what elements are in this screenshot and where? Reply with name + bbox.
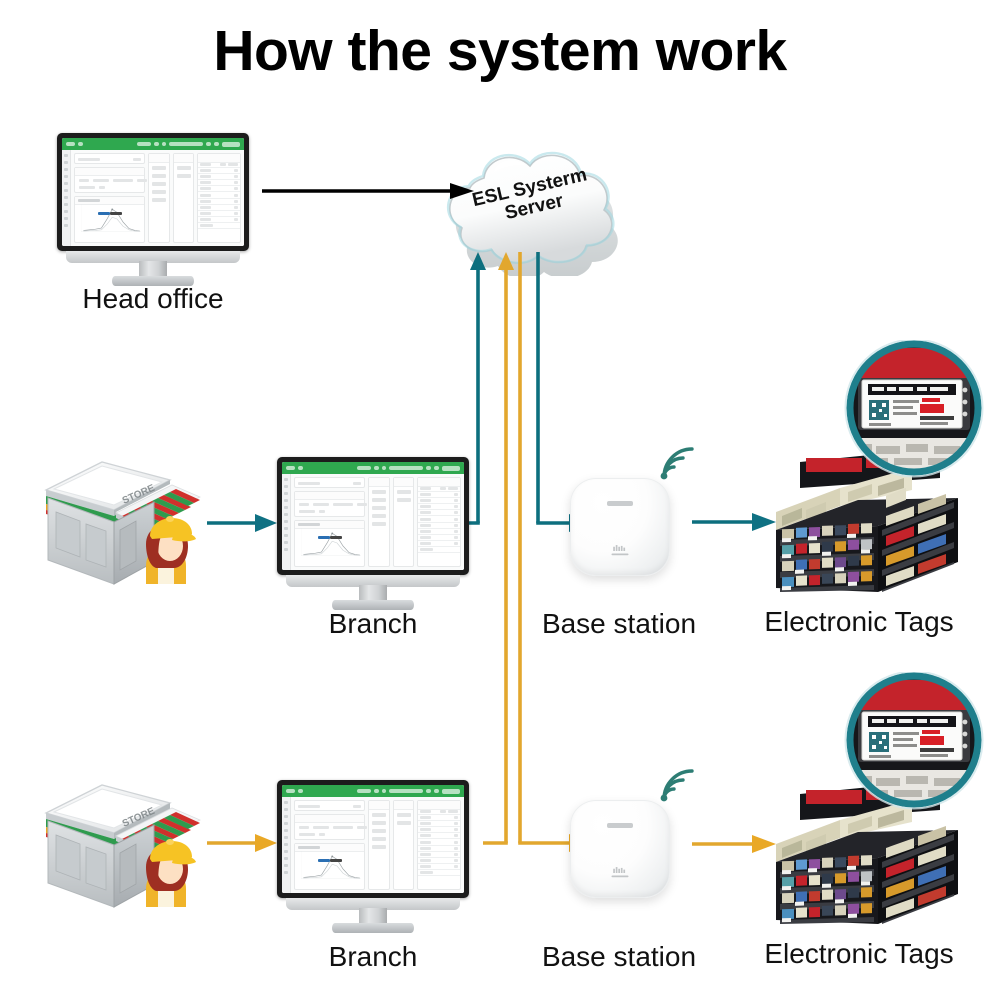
base-station-top-label: Base station bbox=[486, 608, 752, 640]
esl-tag-magnifier bbox=[846, 672, 983, 809]
monitor-base bbox=[332, 923, 414, 933]
dashboard-form-card-a bbox=[148, 153, 170, 243]
electronic-tags-shelf-bottom[interactable] bbox=[762, 672, 994, 924]
store-icon-top[interactable]: STORE bbox=[36, 452, 206, 598]
base-station-bottom[interactable] bbox=[570, 800, 670, 898]
convenience-store-icon: STORE bbox=[36, 452, 206, 598]
tags-bottom-label: Electronic Tags bbox=[716, 938, 1000, 970]
dashboard-sidebar[interactable] bbox=[62, 150, 71, 246]
dashboard-filter-card bbox=[74, 167, 145, 193]
convenience-store-icon: STORE bbox=[36, 775, 206, 921]
branch-bottom-screen[interactable] bbox=[282, 785, 464, 893]
dashboard-breadcrumb-card bbox=[294, 477, 365, 488]
branch-top-label: Branch bbox=[230, 608, 516, 640]
electronic-tags-shelf-top[interactable] bbox=[762, 340, 994, 592]
arrow-head-office-to-cloud bbox=[262, 178, 477, 204]
wifi-signal-icon-bottom bbox=[655, 765, 699, 807]
dashboard-filter-card bbox=[294, 491, 365, 517]
store-icon-bottom[interactable]: STORE bbox=[36, 775, 206, 921]
dashboard-form-card-b bbox=[393, 800, 415, 890]
line-chart-svg bbox=[301, 851, 361, 879]
branch-bottom-label: Branch bbox=[230, 941, 516, 973]
head-office-screen[interactable] bbox=[62, 138, 244, 246]
arrow-store-top-to-branch-top bbox=[207, 510, 279, 536]
head-office-label: Head office bbox=[10, 283, 296, 315]
dashboard-filter-card bbox=[294, 814, 365, 840]
ap-brand-logo bbox=[600, 867, 640, 881]
dashboard-header-bar bbox=[282, 785, 464, 797]
esl-dashboard bbox=[282, 462, 464, 570]
dashboard-data-table[interactable] bbox=[197, 153, 241, 243]
base-station-top[interactable] bbox=[570, 478, 670, 576]
dashboard-sidebar[interactable] bbox=[282, 797, 291, 893]
dashboard-data-table[interactable] bbox=[417, 800, 461, 890]
wifi-signal-icon-top bbox=[655, 443, 699, 485]
ap-brand-logo bbox=[600, 545, 640, 559]
dashboard-form-card-a bbox=[368, 477, 390, 567]
dashboard-breadcrumb-card bbox=[74, 153, 145, 164]
dashboard-line-chart bbox=[294, 843, 365, 890]
base-station-bottom-label: Base station bbox=[486, 941, 752, 973]
branch-top-monitor[interactable] bbox=[277, 457, 469, 597]
dashboard-header-bar bbox=[62, 138, 244, 150]
dashboard-main bbox=[291, 797, 464, 893]
line-chart-svg bbox=[81, 204, 141, 232]
branch-top-screen[interactable] bbox=[282, 462, 464, 570]
head-office-monitor[interactable] bbox=[57, 133, 249, 273]
dashboard-data-table[interactable] bbox=[417, 477, 461, 567]
esl-tag-magnifier bbox=[846, 340, 983, 477]
ap-led-slot bbox=[607, 501, 633, 506]
dashboard-line-chart bbox=[294, 520, 365, 567]
dashboard-form-card-a bbox=[368, 800, 390, 890]
branch-bottom-monitor[interactable] bbox=[277, 780, 469, 920]
dashboard-line-chart bbox=[74, 196, 145, 243]
retail-shelf-icon bbox=[762, 340, 994, 592]
dashboard-main bbox=[291, 474, 464, 570]
dashboard-header-bar bbox=[282, 462, 464, 474]
dashboard-form-card-b bbox=[173, 153, 195, 243]
tags-top-label: Electronic Tags bbox=[716, 606, 1000, 638]
dashboard-main bbox=[71, 150, 244, 246]
esl-dashboard bbox=[62, 138, 244, 246]
arrow-store-bottom-to-branch-bottom bbox=[207, 830, 279, 856]
ap-led-slot bbox=[607, 823, 633, 828]
dashboard-breadcrumb-card bbox=[294, 800, 365, 811]
line-chart-svg bbox=[301, 528, 361, 556]
dashboard-sidebar[interactable] bbox=[282, 474, 291, 570]
retail-shelf-icon bbox=[762, 672, 994, 924]
dashboard-form-card-b bbox=[393, 477, 415, 567]
diagram-canvas: How the system work bbox=[0, 0, 1000, 1000]
esl-dashboard bbox=[282, 785, 464, 893]
page-title: How the system work bbox=[0, 18, 1000, 84]
